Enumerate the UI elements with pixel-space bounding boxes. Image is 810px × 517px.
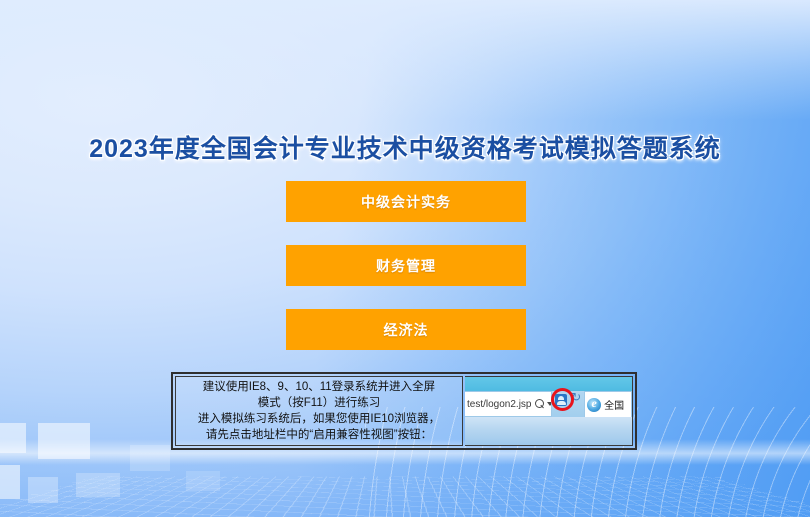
subject-button-economic-law[interactable]: 经济法 xyxy=(286,309,526,350)
notice-text: 建议使用IE8、9、10、11登录系统并进入全屏 模式（按F11）进行练习 进入… xyxy=(195,379,443,443)
ie-toolbar-row: test/logon2.jsp ↻ 全国 xyxy=(465,391,632,417)
ie-page-area xyxy=(465,417,632,445)
ie-address-bar-icons xyxy=(532,398,553,411)
browser-screenshot-panel: test/logon2.jsp ↻ 全国 xyxy=(465,376,633,446)
subject-button-financial-management[interactable]: 财务管理 xyxy=(286,245,526,286)
internet-explorer-icon xyxy=(587,398,601,412)
subject-button-group: 中级会计实务 财务管理 经济法 xyxy=(286,181,526,350)
search-icon[interactable] xyxy=(534,398,545,411)
notice-box: 建议使用IE8、9、10、11登录系统并进入全屏 模式（按F11）进行练习 进入… xyxy=(171,372,637,450)
background-top-wash xyxy=(0,0,810,120)
ie-browser-tab-title: 全国 xyxy=(604,397,624,412)
page-root: 2023年度全国会计专业技术中级资格考试模拟答题系统 中级会计实务 财务管理 经… xyxy=(0,0,810,517)
ie-address-bar[interactable]: test/logon2.jsp xyxy=(465,391,552,417)
page-title: 2023年度全国会计专业技术中级资格考试模拟答题系统 xyxy=(0,129,810,165)
notice-text-panel: 建议使用IE8、9、10、11登录系统并进入全屏 模式（按F11）进行练习 进入… xyxy=(175,376,463,446)
compatibility-view-button[interactable] xyxy=(554,391,568,408)
ie-address-bar-url: test/logon2.jsp xyxy=(467,399,532,410)
ie-titlebar xyxy=(465,377,632,391)
ie-browser-screenshot: test/logon2.jsp ↻ 全国 xyxy=(465,377,632,445)
ie-browser-tab[interactable]: 全国 xyxy=(584,391,632,417)
subject-button-intermediate-accounting-practice[interactable]: 中级会计实务 xyxy=(286,181,526,222)
